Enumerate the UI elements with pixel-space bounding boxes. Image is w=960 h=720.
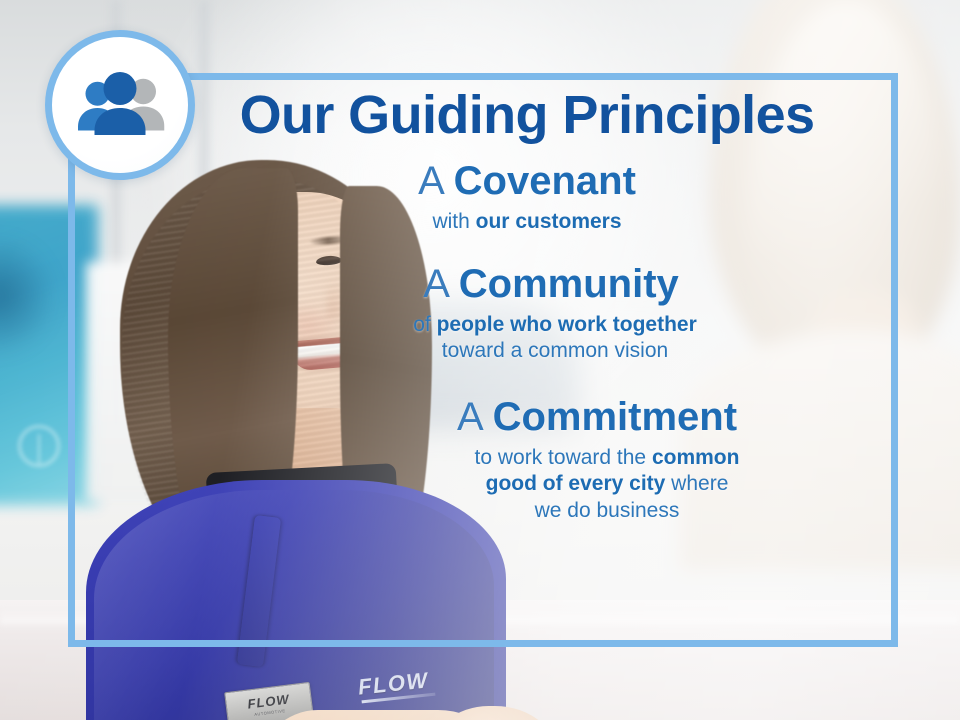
principle-subtext: to work toward the common good of every …: [200, 445, 854, 524]
banner-shadow: [0, 236, 56, 356]
principle-article: A: [457, 395, 481, 439]
principle-community: A Community of people who work together …: [200, 261, 854, 364]
subtext-line: good of every city where: [360, 471, 854, 497]
badge-sub-text: AUTOMOTIVE: [254, 709, 286, 717]
subtext-line: of people who work together: [256, 312, 854, 338]
subtext-line: toward a common vision: [256, 338, 854, 364]
principle-article: A: [423, 262, 447, 306]
subtext-line: with our customers: [200, 209, 854, 235]
principle-word: Commitment: [493, 395, 737, 439]
principle-heading: A Community: [200, 261, 854, 307]
principle-word: Community: [459, 262, 679, 306]
people-group-badge: [45, 30, 195, 180]
subtext-line: we do business: [360, 498, 854, 524]
people-group-icon: [72, 70, 168, 140]
principle-subtext: with our customers: [200, 209, 854, 235]
principle-subtext: of people who work together toward a com…: [200, 312, 854, 365]
principle-article: A: [418, 159, 442, 203]
guiding-principles-graphic: FLOW FLOW AUTOMOTIVE: [0, 0, 960, 720]
principle-heading: A Covenant: [200, 158, 854, 204]
principle-commitment: A Commitment to work toward the common g…: [200, 394, 854, 524]
text-block: Our Guiding Principles A Covenant with o…: [200, 86, 872, 530]
principle-heading: A Commitment: [200, 394, 854, 440]
principle-word: Covenant: [454, 159, 636, 203]
page-title: Our Guiding Principles: [200, 86, 854, 144]
principle-covenant: A Covenant with our customers: [200, 158, 854, 235]
manufacturer-logo: [18, 425, 60, 467]
subtext-line: to work toward the common: [360, 445, 854, 471]
flow-chest-logo: FLOW: [357, 669, 430, 698]
